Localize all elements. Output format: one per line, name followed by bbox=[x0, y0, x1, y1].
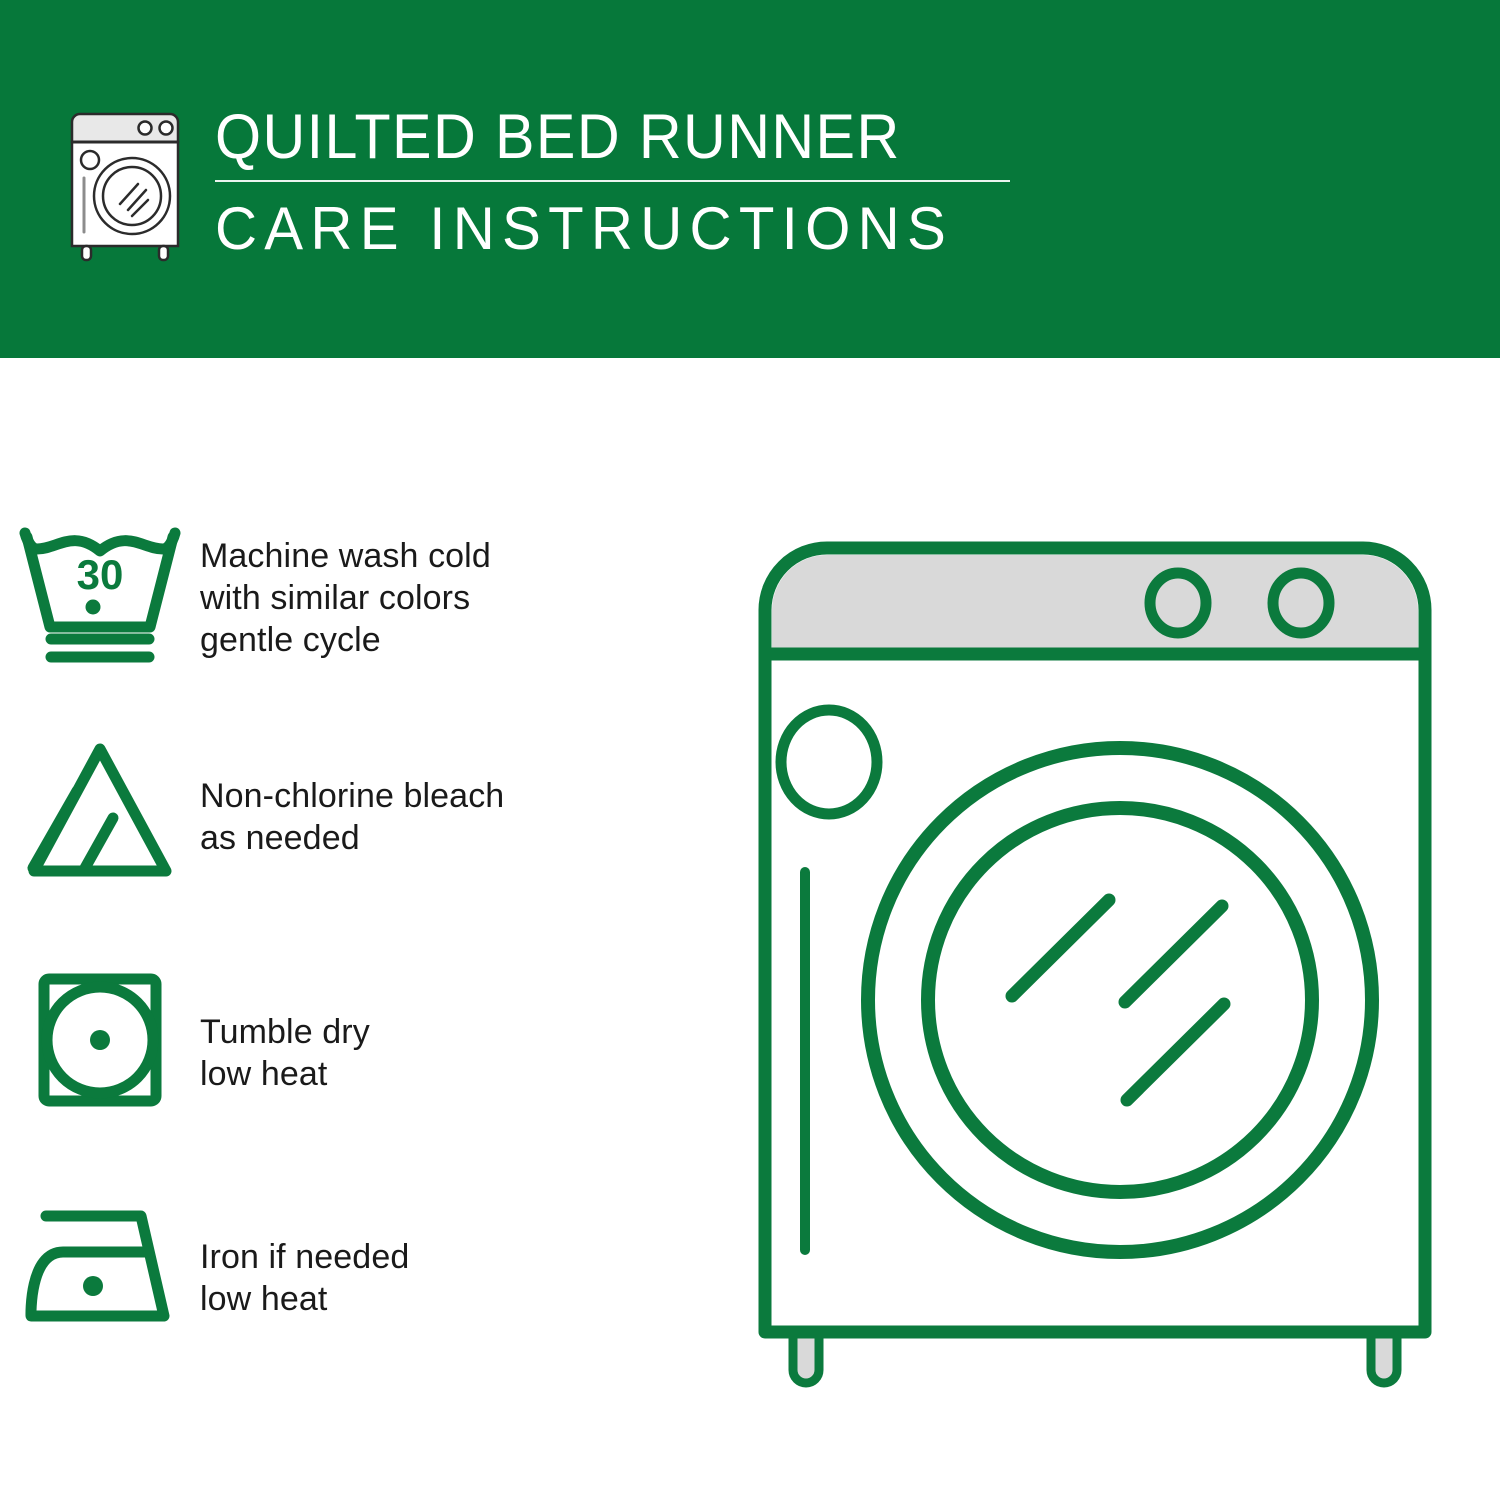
care-label-tumble-dry: Tumble dry low heat bbox=[200, 963, 700, 1095]
washing-machine-icon bbox=[62, 104, 192, 264]
page-subtitle: CARE INSTRUCTIONS bbox=[215, 194, 1001, 264]
iron-low-heat-icon bbox=[0, 1190, 200, 1342]
knob-left bbox=[1150, 573, 1206, 633]
care-row-machine-wash: 30 Machine wash cold with similar colors… bbox=[0, 513, 700, 723]
care-instruction-list: 30 Machine wash cold with similar colors… bbox=[0, 358, 700, 1500]
care-row-bleach: Non-chlorine bleach as needed bbox=[0, 733, 700, 943]
care-row-tumble-dry: Tumble dry low heat bbox=[0, 963, 700, 1173]
header-banner: QUILTED BED RUNNER CARE INSTRUCTIONS bbox=[0, 0, 1500, 358]
knob-right bbox=[1273, 573, 1329, 633]
care-label-machine-wash: Machine wash cold with similar colors ge… bbox=[200, 513, 700, 661]
care-instructions-infographic: QUILTED BED RUNNER CARE INSTRUCTIONS 30 bbox=[0, 0, 1500, 1500]
header-text-block: QUILTED BED RUNNER CARE INSTRUCTIONS bbox=[215, 100, 1025, 264]
wash-temperature-value: 30 bbox=[77, 551, 124, 598]
care-label-bleach: Non-chlorine bleach as needed bbox=[200, 733, 700, 859]
tumble-dry-low-heat-icon bbox=[0, 963, 200, 1115]
non-chlorine-bleach-triangle-icon bbox=[0, 733, 200, 885]
title-divider bbox=[215, 180, 1010, 182]
detergent-dial bbox=[781, 710, 877, 814]
care-row-iron: Iron if needed low heat bbox=[0, 1190, 700, 1400]
care-label-iron: Iron if needed low heat bbox=[200, 1190, 700, 1320]
page-title: QUILTED BED RUNNER bbox=[215, 100, 976, 174]
wash-tub-30-gentle-icon: 30 bbox=[0, 513, 200, 665]
front-load-washing-machine-illustration bbox=[735, 490, 1465, 1430]
